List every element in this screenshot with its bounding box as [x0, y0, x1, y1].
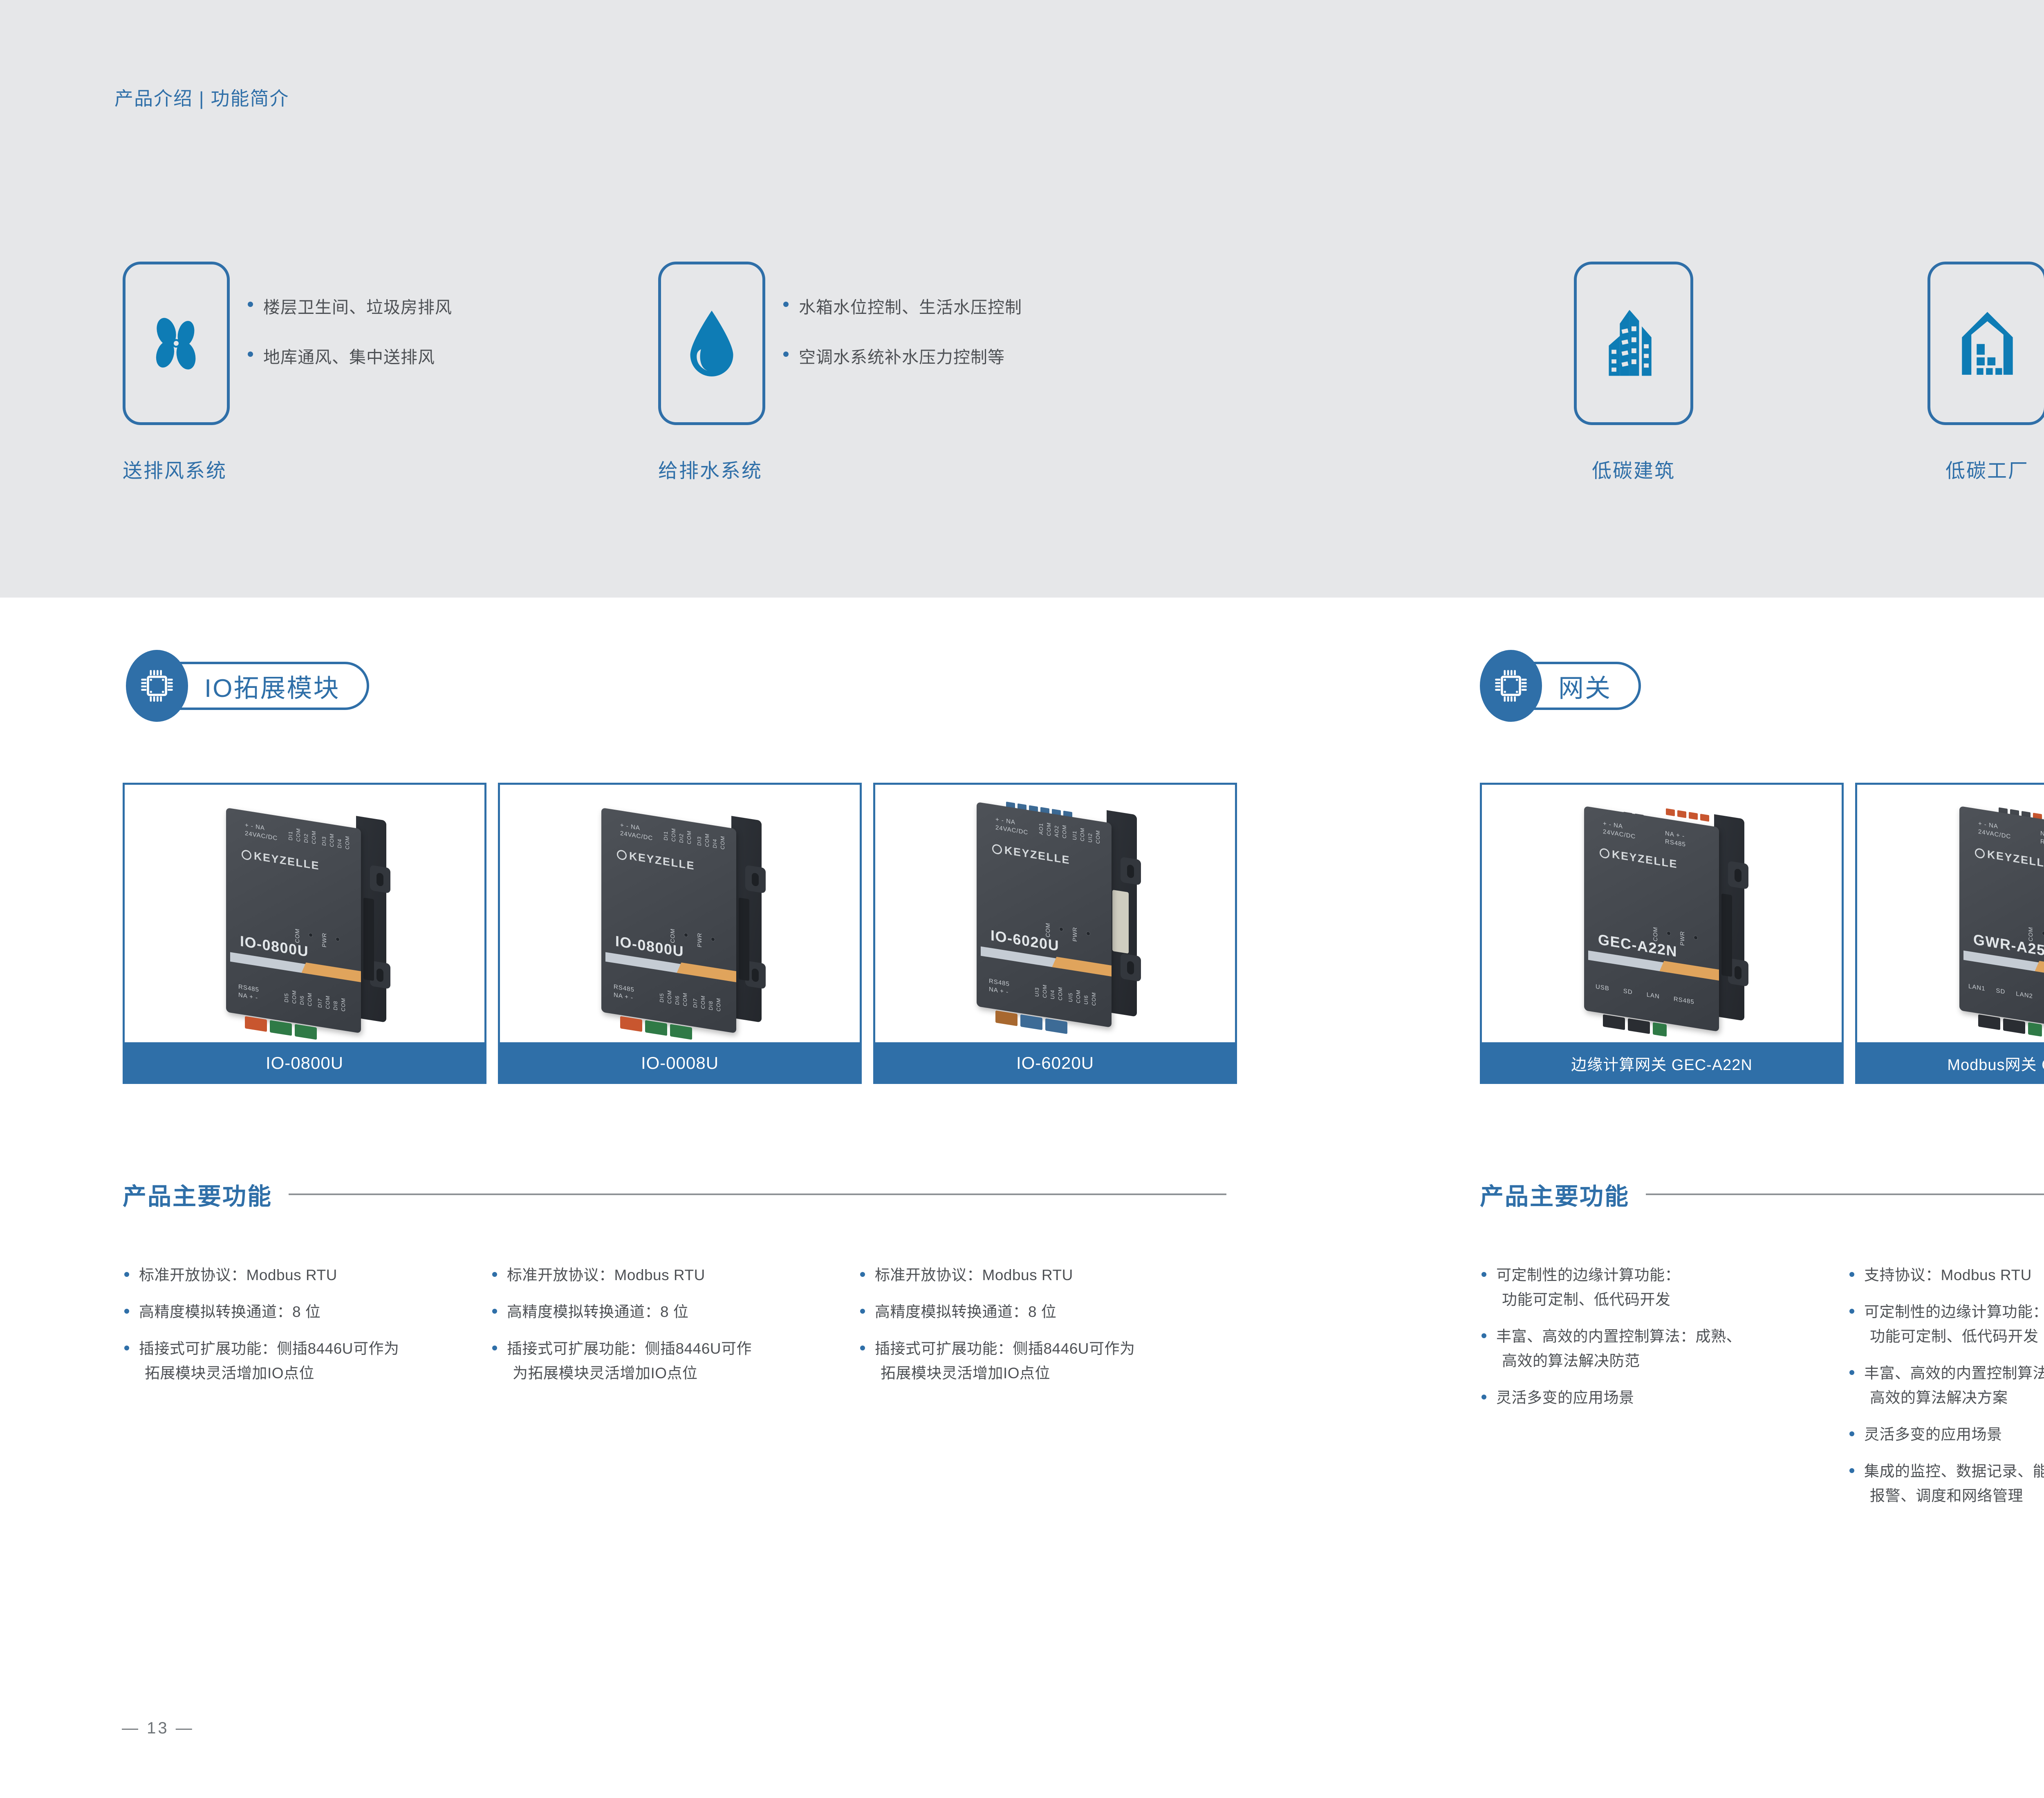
feature-item: 可定制性的边缘计算功能：功能可定制、低代码开发: [1848, 1300, 2044, 1349]
office-building-icon-frame: [1574, 262, 1693, 425]
section-pill-io-modules[interactable]: IO拓展模块: [126, 650, 369, 722]
application-bullets: 水箱水位控制、生活水压控制 空调水系统补水压力控制等: [781, 293, 1022, 393]
feature-item: 插接式可扩展功能：侧插8446U可作为拓展模块灵活增加IO点位: [123, 1337, 491, 1386]
feature-item: 标准开放协议：Modbus RTU: [491, 1263, 858, 1287]
product-label: Modbus网关 GWR-A25N: [1855, 1042, 2044, 1084]
features-columns-io: 标准开放协议：Modbus RTU 高精度模拟转换通道：8 位 插接式可扩展功能…: [123, 1263, 1226, 1398]
device-ports-label: LAN1 SD LAN2 RS485 1: [1968, 982, 2044, 1007]
device-power-label: + - NA 24VAC/DC: [995, 815, 1028, 837]
section-pill-body: IO拓展模块: [157, 662, 369, 710]
section-pill-title: IO拓展模块: [204, 667, 340, 704]
device-rs485-top-label: NA + - RS485: [1665, 829, 1686, 849]
features-column: 标准开放协议：Modbus RTU 高精度模拟转换通道：8 位 插接式可扩展功能…: [123, 1263, 491, 1398]
feature-item: 灵活多变的应用场景: [1848, 1422, 2044, 1447]
device-brand: KEYZELLE: [242, 848, 320, 873]
feature-item: 高精度模拟转换通道：8 位: [491, 1300, 858, 1324]
device-rs485-label: RS485 NA + -: [238, 983, 259, 1003]
features-column: 标准开放协议：Modbus RTU 高精度模拟转换通道：8 位 插接式可扩展功能…: [491, 1263, 858, 1398]
feature-item: 丰富、高效的内置控制算法：成熟、高效的算法解决防范: [1480, 1324, 1848, 1373]
water-drop-icon-frame: [658, 262, 765, 425]
application-bullets: 楼层卫生间、垃圾房排风 地库通风、集中送排风: [245, 293, 452, 393]
device-rs485-label: RS485 NA + -: [614, 983, 634, 1003]
office-building-icon: [1599, 306, 1668, 381]
chip-icon: [138, 667, 176, 705]
product-label: IO-6020U: [873, 1042, 1237, 1084]
product-card[interactable]: + - NA 24VAC/DC AO1 COM AO2 COM UI1 COM …: [873, 783, 1237, 1084]
product-card[interactable]: + - NA 24VAC/DC DI1 COM DI2 COM DI3 COM …: [498, 783, 862, 1084]
application-water-supply: 给排水系统 水箱水位控制、生活水压控制 空调水系统补水压力控制等: [658, 262, 765, 483]
factory-icon: [1954, 307, 2021, 380]
features-columns-gateway: 可定制性的边缘计算功能：功能可定制、低代码开发 丰富、高效的内置控制算法：成熟、…: [1480, 1263, 2044, 1520]
scene-low-carbon-building: 低碳建筑: [1574, 262, 1693, 483]
running-header-left: 产品介绍 | 功能简介: [114, 84, 289, 111]
features-rule: [289, 1193, 1226, 1195]
feature-item: 插接式可扩展功能：侧插8446U可作为拓展模块灵活增加IO点位: [858, 1337, 1226, 1386]
application-caption: 送排风系统: [123, 455, 230, 483]
features-title: 产品主要功能: [1480, 1177, 1629, 1211]
device-power-label: + - NA 24VAC/DC: [1978, 820, 2011, 841]
feature-item: 灵活多变的应用场景: [1480, 1386, 1848, 1410]
device-brand: KEYZELLE: [617, 848, 695, 873]
product-label: IO-0008U: [498, 1042, 862, 1084]
chip-icon: [1492, 667, 1530, 705]
feature-item: 标准开放协议：Modbus RTU: [858, 1263, 1226, 1287]
fan-icon: [146, 313, 207, 374]
device-power-label: + - NA 24VAC/DC: [620, 821, 653, 843]
features-column: 标准开放协议：Modbus RTU 高精度模拟转换通道：8 位 插接式可扩展功能…: [858, 1263, 1226, 1398]
product-card[interactable]: + - NA 24VAC/DC DI1 COM DI2 COM DI3 COM …: [123, 783, 486, 1084]
bullet-item: 楼层卫生间、垃圾房排风: [245, 293, 452, 318]
device-brand: KEYZELLE: [1975, 846, 2044, 871]
feature-item: 标准开放协议：Modbus RTU: [123, 1263, 491, 1287]
feature-item: 高精度模拟转换通道：8 位: [858, 1300, 1226, 1324]
scene-caption: 低碳建筑: [1574, 455, 1693, 483]
bullet-item: 水箱水位控制、生活水压控制: [781, 293, 1022, 318]
product-card[interactable]: + - NA 24VAC/DC NA + - RS485 KEYZELLE CO…: [1855, 783, 2044, 1084]
feature-item: 支持协议：Modbus RTU: [1848, 1263, 2044, 1287]
application-caption: 给排水系统: [658, 455, 765, 483]
product-label: 边缘计算网关 GEC-A22N: [1480, 1042, 1844, 1084]
product-image: + - NA 24VAC/DC DI1 COM DI2 COM DI3 COM …: [123, 783, 486, 1042]
device-power-label: + - NA 24VAC/DC: [1603, 820, 1636, 841]
water-drop-icon: [683, 308, 740, 379]
product-image: + - NA 24VAC/DC NA + - RS485 KEYZELLE CO…: [1480, 783, 1844, 1042]
device-rs485-label: RS485 NA + -: [989, 977, 1010, 997]
section-pill-title: 网关: [1558, 667, 1611, 704]
chip-icon-badge: [126, 650, 188, 722]
feature-item: 丰富、高效的内置控制算法：成熟、高效的算法解决方案: [1848, 1361, 2044, 1410]
features-column: 支持协议：Modbus RTU 可定制性的边缘计算功能：功能可定制、低代码开发 …: [1848, 1263, 2044, 1520]
product-image: + - NA 24VAC/DC DI1 COM DI2 COM DI3 COM …: [498, 783, 862, 1042]
features-header-gateway: 产品主要功能: [1480, 1177, 2044, 1211]
features-column: 可定制性的边缘计算功能：功能可定制、低代码开发 丰富、高效的内置控制算法：成熟、…: [1480, 1263, 1848, 1520]
device-ports-label: USB SD LAN RS485: [1596, 983, 1694, 1007]
feature-item: 插接式可扩展功能：侧插8446U可作为拓展模块灵活增加IO点位: [491, 1337, 858, 1386]
product-cards-gateway: + - NA 24VAC/DC NA + - RS485 KEYZELLE CO…: [1480, 783, 2044, 1084]
application-ventilation: 送排风系统 楼层卫生间、垃圾房排风 地库通风、集中送排风: [123, 262, 230, 483]
scene-low-carbon-factory: 低碳工厂: [1927, 262, 2044, 483]
device-brand: KEYZELLE: [1600, 846, 1678, 871]
product-label: IO-0800U: [123, 1042, 486, 1084]
device-brand: KEYZELLE: [992, 842, 1070, 867]
product-card[interactable]: + - NA 24VAC/DC NA + - RS485 KEYZELLE CO…: [1480, 783, 1844, 1084]
feature-item: 可定制性的边缘计算功能：功能可定制、低代码开发: [1480, 1263, 1848, 1312]
scene-caption: 低碳工厂: [1927, 455, 2044, 483]
page-number-left: — 13 —: [122, 1719, 194, 1738]
product-cards-io: + - NA 24VAC/DC DI1 COM DI2 COM DI3 COM …: [123, 783, 1237, 1084]
features-header-io: 产品主要功能: [123, 1177, 1226, 1211]
features-title: 产品主要功能: [123, 1177, 272, 1211]
device-rs485-top-label: NA + - RS485: [2040, 829, 2044, 849]
features-rule: [1646, 1193, 2044, 1195]
bullet-item: 空调水系统补水压力控制等: [781, 343, 1022, 368]
factory-icon-frame: [1927, 262, 2044, 425]
chip-icon-badge: [1480, 650, 1542, 722]
device-power-label: + - NA 24VAC/DC: [245, 821, 278, 843]
fan-icon-frame: [123, 262, 230, 425]
bullet-item: 地库通风、集中送排风: [245, 343, 452, 368]
section-pill-gateway[interactable]: 网关: [1480, 650, 1641, 722]
product-image: + - NA 24VAC/DC NA + - RS485 KEYZELLE CO…: [1855, 783, 2044, 1042]
feature-item: 集成的监控、数据记录、能耗计量、报警、调度和网络管理: [1848, 1459, 2044, 1508]
product-image: + - NA 24VAC/DC AO1 COM AO2 COM UI1 COM …: [873, 783, 1237, 1042]
feature-item: 高精度模拟转换通道：8 位: [123, 1300, 491, 1324]
